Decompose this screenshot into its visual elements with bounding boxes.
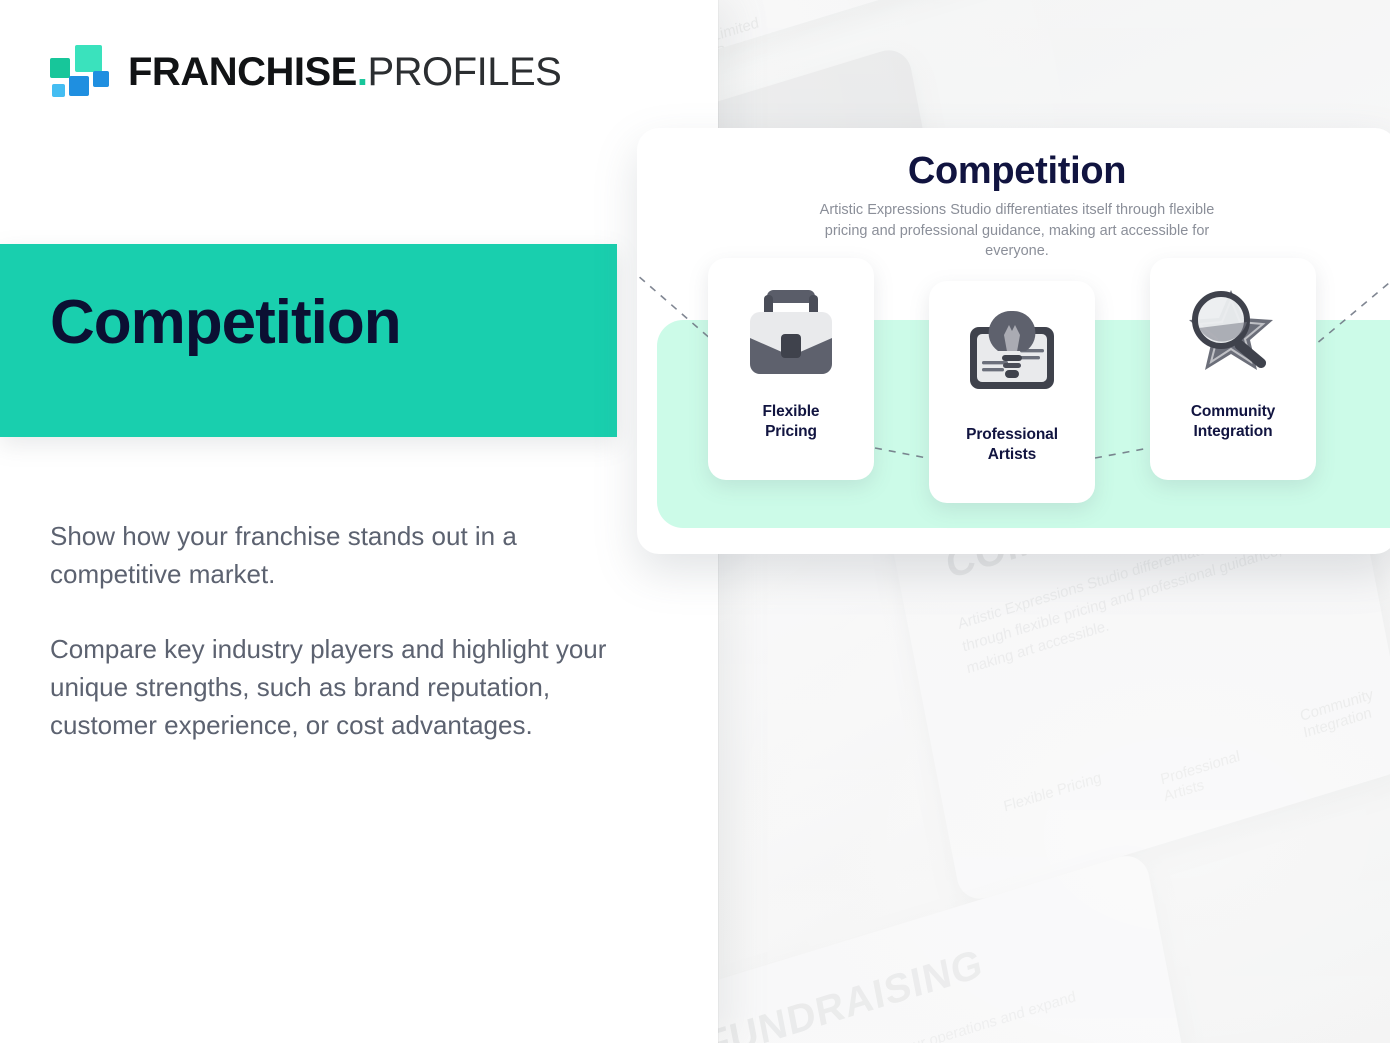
- feature-label: Professional Artists: [966, 425, 1058, 465]
- logo-squares-icon: [50, 45, 106, 99]
- slide-title: Competition: [637, 150, 1390, 193]
- briefcase-icon: [731, 276, 851, 394]
- lightbulb-board-icon: [952, 299, 1072, 417]
- feature-card-flexible-pricing[interactable]: Flexible Pricing: [708, 258, 874, 480]
- feature-card-community-integration[interactable]: Community Integration: [1150, 258, 1316, 480]
- brand-name-bold: FRANCHISE: [128, 50, 357, 94]
- description-paragraph-1: Show how your franchise stands out in a …: [50, 518, 630, 593]
- feature-card-professional-artists[interactable]: Professional Artists: [929, 281, 1095, 503]
- feature-label: Flexible Pricing: [763, 402, 820, 442]
- description-paragraph-2: Compare key industry players and highlig…: [50, 631, 630, 744]
- page-title: Competition: [50, 290, 401, 355]
- description-block: Show how your franchise stands out in a …: [50, 518, 630, 744]
- star-magnifier-icon: [1173, 276, 1293, 394]
- brand-logo[interactable]: FRANCHISE.PROFILES: [50, 45, 561, 99]
- slide-subtitle: Artistic Expressions Studio differentiat…: [817, 200, 1217, 262]
- brand-name-dot: .: [357, 50, 368, 94]
- feature-label: Community Integration: [1191, 402, 1275, 442]
- slide-canvas: Drop-In Fees Session Workshops Commissio…: [0, 0, 1390, 1043]
- brand-name-light: PROFILES: [367, 50, 561, 94]
- section-banner: Competition: [0, 244, 617, 437]
- slide-preview-card[interactable]: Competition Artistic Expressions Studio …: [637, 128, 1390, 554]
- brand-wordmark: FRANCHISE.PROFILES: [128, 52, 561, 92]
- left-content-panel: FRANCHISE.PROFILES Competition Show how …: [0, 0, 718, 1043]
